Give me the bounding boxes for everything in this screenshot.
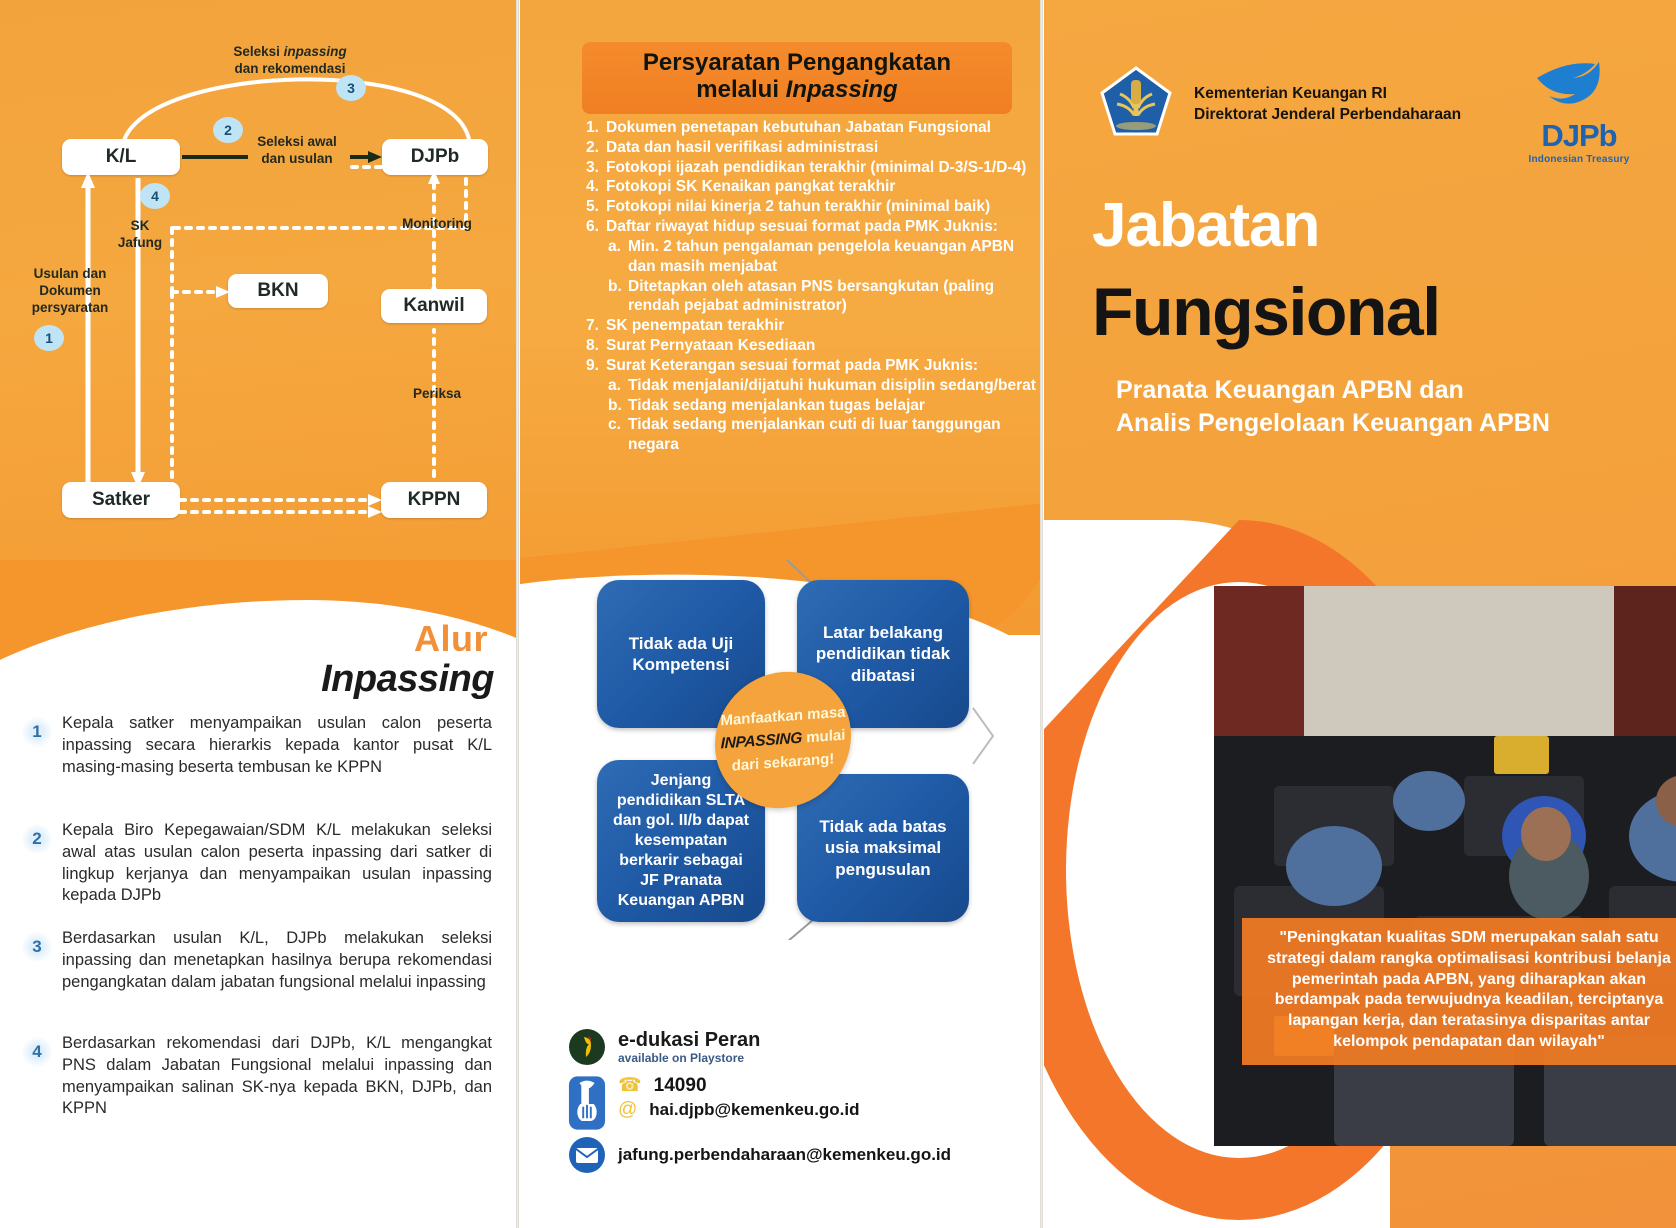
requirement-sub-text: Ditetapkan oleh atasan PNS bersangkutan … [628, 277, 1036, 317]
flow-label-sk-jafung-l2: Jafung [118, 235, 162, 250]
alur-step-3: 3 Berdasarkan usulan K/L, DJPb melakukan… [22, 928, 492, 993]
phone-icon: ☎ [618, 1074, 642, 1097]
fold-line-right [1040, 0, 1043, 1228]
requirements-heading: Persyaratan Pengangkatan melalui Inpassi… [582, 42, 1012, 114]
flow-label-usulan-l1: Usulan dan [34, 266, 107, 281]
requirement-sub-text: Tidak menjalani/dijatuhi hukuman disipli… [628, 376, 1036, 396]
contact-phone-row[interactable]: ☎ 14090 [618, 1074, 860, 1097]
requirement-subitem: b. Ditetapkan oleh atasan PNS bersangkut… [586, 277, 1036, 317]
alur-step-1-number: 1 [22, 717, 52, 747]
requirement-sub-text: Tidak sedang menjalankan tugas belajar [628, 396, 925, 416]
contact-app-text: e-dukasi Peran available on Playstore [618, 1030, 760, 1065]
requirement-text: Surat Keterangan sesuai format pada PMK … [606, 356, 978, 376]
djpb-logo: DJPb Indonesian Treasury [1514, 56, 1644, 165]
contact-email-hai: hai.djpb@kemenkeu.go.id [649, 1100, 859, 1120]
requirement-item: 9. Surat Keterangan sesuai format pada P… [586, 356, 1036, 376]
flow-label-periksa: Periksa [382, 386, 492, 403]
contact-lines: ☎ 14090 @ hai.djpb@kemenkeu.go.id [618, 1072, 860, 1125]
contact-app-name: e-dukasi Peran [618, 1030, 760, 1051]
benefits-callout-inpassing: INPASSING [721, 730, 802, 753]
requirement-text: Dokumen penetapan kebutuhan Jabatan Fung… [606, 118, 991, 138]
benefits-callout-mulai: mulai [802, 727, 845, 747]
requirement-text: SK penempatan terakhir [606, 316, 784, 336]
brochure-title-line1: Jabatan [1092, 195, 1319, 257]
flow-badge-1-text: 1 [45, 330, 53, 346]
flow-label-monitoring-text: Monitoring [402, 216, 472, 231]
contact-phone-number: 14090 [654, 1075, 707, 1097]
requirements-heading-inpassing: Inpassing [786, 76, 898, 103]
djpb-wordmark: DJPb [1514, 118, 1644, 154]
requirement-subitem: b. Tidak sedang menjalankan tugas belaja… [586, 396, 1036, 416]
flow-label-seleksi-awal: Seleksi awal dan usulan [238, 134, 356, 168]
requirement-item: 2. Data dan hasil verifikasi administras… [586, 138, 1036, 158]
requirement-sub-letter: b. [608, 277, 623, 317]
requirement-sub-text: Min. 2 tahun pengalaman pengelola keuang… [628, 237, 1036, 277]
requirement-text: Fotokopi SK Kenaikan pangkat terakhir [606, 177, 895, 197]
alur-step-4: 4 Berdasarkan rekomendasi dari DJPb, K/L… [22, 1033, 492, 1120]
left-panel: K/L DJPb BKN Kanwil Satker KPPN [0, 0, 516, 1228]
flow-label-seleksi-awal-l1: Seleksi awal [257, 134, 337, 149]
requirement-text: Data dan hasil verifikasi administrasi [606, 138, 878, 158]
alur-step-3-number: 3 [22, 932, 52, 962]
requirement-sub-letter: c. [608, 415, 623, 455]
requirement-item: 3. Fotokopi ijazah pendidikan terakhir (… [586, 158, 1036, 178]
flow-label-sk-jafung: SK Jafung [95, 218, 185, 252]
requirement-item: 5. Fotokopi nilai kinerja 2 tahun terakh… [586, 197, 1036, 217]
flow-label-monitoring: Monitoring [382, 216, 492, 233]
brochure-page: K/L DJPb BKN Kanwil Satker KPPN [0, 0, 1676, 1228]
flow-label-periksa-text: Periksa [413, 386, 461, 401]
contact-email-jafung: jafung.perbendaharaan@kemenkeu.go.id [618, 1145, 951, 1165]
brochure-subtitle-line1: Pranata Keuangan APBN dan [1116, 374, 1550, 407]
requirement-text: Surat Pernyataan Kesediaan [606, 336, 815, 356]
flow-badge-4-text: 4 [151, 188, 159, 204]
flow-badge-4: 4 [140, 183, 170, 209]
requirements-heading-line2: melalui Inpassing [592, 77, 1002, 104]
contact-hai-djpb-group: ☎ 14090 @ hai.djpb@kemenkeu.go.id [568, 1072, 998, 1134]
requirement-number: 8. [586, 336, 601, 356]
requirement-number: 4. [586, 177, 601, 197]
flow-badge-2: 2 [213, 117, 243, 143]
requirements-list: 1. Dokumen penetapan kebutuhan Jabatan F… [586, 118, 1036, 455]
flow-label-seleksi-awal-l2: dan usulan [261, 151, 332, 166]
flow-label-seleksi-inpassing: Seleksi inpassing dan rekomendasi [195, 44, 385, 78]
requirement-item: 6. Daftar riwayat hidup sesuai format pa… [586, 217, 1036, 237]
requirements-heading-line1: Persyaratan Pengangkatan [592, 50, 1002, 77]
alur-heading-top: Alur [414, 618, 488, 660]
right-panel: Kementerian Keuangan RI Direktorat Jende… [1044, 0, 1676, 1228]
brochure-title-line2: Fungsional [1092, 278, 1440, 346]
ministry-line-2: Direktorat Jenderal Perbendaharaan [1194, 105, 1461, 126]
requirement-number: 9. [586, 356, 601, 376]
requirement-sub-letter: a. [608, 237, 623, 277]
brochure-quote: "Peningkatan kualitas SDM merupakan sala… [1242, 918, 1676, 1065]
alur-step-2-text: Kepala Biro Kepegawaian/SDM K/L melakuka… [62, 820, 492, 907]
benefits-diagram: Tidak ada Uji Kompetensi Latar belakang … [575, 560, 995, 940]
alur-step-4-number: 4 [22, 1037, 52, 1067]
requirement-item: 7. SK penempatan terakhir [586, 316, 1036, 336]
djpb-tagline: Indonesian Treasury [1514, 154, 1644, 165]
envelope-icon [568, 1136, 606, 1174]
kemenkeu-logo [1100, 66, 1172, 138]
contacts-block: e-dukasi Peran available on Playstore ☎ … [568, 1028, 998, 1180]
requirement-sub-text: Tidak sedang menjalankan cuti di luar ta… [628, 415, 1036, 455]
djpb-swoosh-icon [1531, 56, 1627, 118]
contact-email2-row[interactable]: jafung.perbendaharaan@kemenkeu.go.id [568, 1136, 998, 1174]
requirement-number: 1. [586, 118, 601, 138]
requirement-sub-letter: b. [608, 396, 623, 416]
alur-step-2-number: 2 [22, 824, 52, 854]
alur-step-4-text: Berdasarkan rekomendasi dari DJPb, K/L m… [62, 1033, 492, 1120]
requirement-sub-letter: a. [608, 376, 623, 396]
requirement-text: Daftar riwayat hidup sesuai format pada … [606, 217, 998, 237]
flow-label-usulan-dokumen: Usulan dan Dokumen persyaratan [14, 266, 126, 317]
alur-step-2: 2 Kepala Biro Kepegawaian/SDM K/L melaku… [22, 820, 492, 907]
requirement-item: 4. Fotokopi SK Kenaikan pangkat terakhir [586, 177, 1036, 197]
requirement-text: Fotokopi nilai kinerja 2 tahun terakhir … [606, 197, 990, 217]
alur-step-3-text: Berdasarkan usulan K/L, DJPb melakukan s… [62, 928, 492, 993]
flow-badge-1: 1 [34, 325, 64, 351]
requirement-subitem: a. Min. 2 tahun pengalaman pengelola keu… [586, 237, 1036, 277]
alur-step-1: 1 Kepala satker menyampaikan usulan calo… [22, 713, 492, 778]
requirements-heading-melalui: melalui [696, 76, 785, 103]
flow-label-usulan-l2: Dokumen [39, 283, 101, 298]
fold-line-left [516, 0, 519, 1228]
contact-email1-row[interactable]: @ hai.djpb@kemenkeu.go.id [618, 1099, 860, 1121]
requirement-number: 3. [586, 158, 601, 178]
requirement-item: 8. Surat Pernyataan Kesediaan [586, 336, 1036, 356]
contact-app-availability: available on Playstore [618, 1051, 760, 1065]
benefit-card-no-age-limit: Tidak ada batas usia maksimal pengusulan [797, 774, 969, 922]
brochure-subtitle-line2: Analis Pengelolaan Keuangan APBN [1116, 407, 1550, 440]
flow-label-sk-jafung-l1: SK [131, 218, 150, 233]
requirement-number: 6. [586, 217, 601, 237]
flow-label-usulan-l3: persyaratan [32, 300, 109, 315]
flow-label-seleksi-inpassing-l1: Seleksi inpassing [233, 44, 346, 59]
requirement-subitem: c. Tidak sedang menjalankan cuti di luar… [586, 415, 1036, 455]
edukasi-peran-app-icon [568, 1028, 606, 1066]
alur-heading-bottom: Inpassing [321, 658, 494, 701]
requirement-subitem: a. Tidak menjalani/dijatuhi hukuman disi… [586, 376, 1036, 396]
flow-label-seleksi-inpassing-l2: dan rekomendasi [234, 61, 345, 76]
requirement-item: 1. Dokumen penetapan kebutuhan Jabatan F… [586, 118, 1036, 138]
brochure-subtitle: Pranata Keuangan APBN dan Analis Pengelo… [1116, 374, 1550, 439]
flow-badge-3-text: 3 [347, 80, 355, 96]
requirement-text: Fotokopi ijazah pendidikan terakhir (min… [606, 158, 1026, 178]
hai-djpb-logo-icon [568, 1072, 606, 1134]
alur-inpassing-section: Alur Inpassing 1 Kepala satker menyampai… [0, 608, 516, 1228]
flow-badge-3: 3 [336, 75, 366, 101]
ministry-line-1: Kementerian Keuangan RI [1194, 84, 1461, 105]
alur-step-1-text: Kepala satker menyampaikan usulan calon … [62, 713, 492, 778]
flow-badge-2-text: 2 [224, 122, 232, 138]
ministry-text: Kementerian Keuangan RI Direktorat Jende… [1194, 84, 1461, 126]
contact-app-row[interactable]: e-dukasi Peran available on Playstore [568, 1028, 998, 1066]
at-sign-icon: @ [618, 1099, 637, 1121]
requirement-number: 7. [586, 316, 601, 336]
requirement-number: 2. [586, 138, 601, 158]
requirement-number: 5. [586, 197, 601, 217]
inpassing-flow-diagram: K/L DJPb BKN Kanwil Satker KPPN [0, 0, 516, 560]
